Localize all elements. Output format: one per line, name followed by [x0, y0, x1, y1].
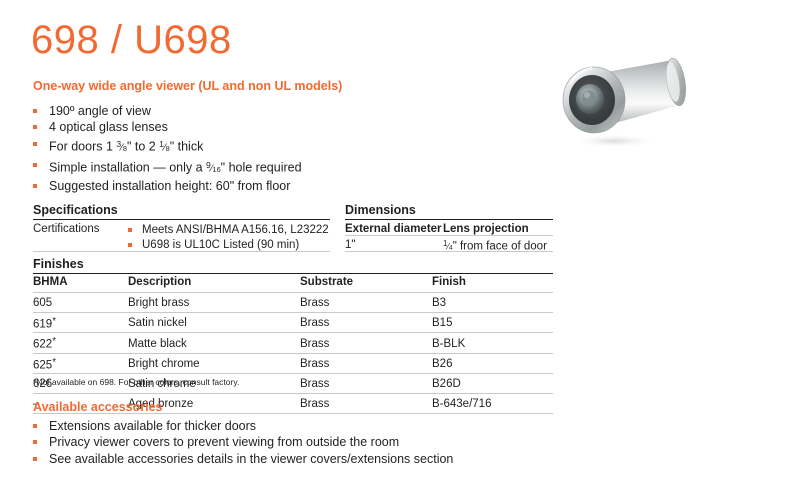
certification-text: Meets ANSI/BHMA A156.16, L23222 — [142, 224, 329, 236]
column-header-finish: Finish — [432, 276, 553, 293]
dimensions-column-lens-projection: Lens projection — [443, 223, 529, 235]
accessory-text: Extensions available for thicker doors — [49, 419, 256, 433]
bullet-square-icon — [33, 125, 37, 129]
dimensions-rule-bottom — [345, 251, 553, 252]
column-header-description: Description — [128, 276, 300, 293]
product-image-door-viewer — [540, 48, 715, 153]
cell-finish: B-BLK — [432, 333, 553, 353]
list-item: 190º angle of view — [33, 103, 302, 119]
cell-substrate: Brass — [300, 293, 432, 313]
bullet-square-icon — [128, 228, 132, 232]
bullet-square-icon — [33, 424, 37, 428]
bullet-square-icon — [128, 243, 132, 247]
finishes-table: BHMA Description Substrate Finish 605Bri… — [33, 276, 553, 414]
footnote-asterisk: * — [52, 357, 56, 368]
product-shadow — [570, 134, 658, 148]
cell-bhma: 625* — [33, 353, 128, 373]
bullet-square-icon — [33, 109, 37, 113]
list-item: For doors 1 3⁄8" to 2 1⁄8" thick — [33, 136, 302, 157]
cell-description: Bright brass — [128, 293, 300, 313]
page-title: 698 / U698 — [31, 18, 232, 62]
cell-substrate: Brass — [300, 313, 432, 333]
finishes-heading: Finishes — [33, 257, 84, 271]
list-item: Suggested installation height: 60" from … — [33, 178, 302, 194]
list-item: Privacy viewer covers to prevent viewing… — [33, 434, 453, 450]
bullet-square-icon — [33, 142, 37, 146]
finishes-rule-top — [33, 273, 553, 274]
dimensions-heading: Dimensions — [345, 203, 416, 217]
feature-list: 190º angle of view 4 optical glass lense… — [33, 103, 302, 194]
accessories-list: Extensions available for thicker doors P… — [33, 418, 453, 467]
cell-bhma: 605 — [33, 293, 128, 313]
finishes-footnote: *Not available on 698. For other colors,… — [33, 377, 239, 387]
accessories-heading: Available accessories — [33, 400, 163, 414]
accessory-text: Privacy viewer covers to prevent viewing… — [49, 435, 399, 449]
specifications-row-label: Certifications — [33, 223, 99, 235]
bullet-square-icon — [33, 457, 37, 461]
accessory-text: See available accessories details in the… — [49, 452, 453, 466]
cell-bhma: 622* — [33, 333, 128, 353]
cell-description: Satin nickel — [128, 313, 300, 333]
cell-substrate: Brass — [300, 374, 432, 394]
column-header-bhma: BHMA — [33, 276, 128, 293]
bullet-square-icon — [33, 440, 37, 444]
cell-substrate: Brass — [300, 394, 432, 414]
specifications-rule-top — [33, 219, 330, 220]
dimensions-rule-top — [345, 219, 553, 220]
cell-finish: B3 — [432, 293, 553, 313]
cell-finish: B26 — [432, 353, 553, 373]
list-item: Simple installation — only a 9⁄16" hole … — [33, 157, 302, 178]
footnote-asterisk: * — [52, 316, 56, 327]
table-row: 619*Satin nickelBrassB15 — [33, 313, 553, 333]
cell-bhma: 619* — [33, 313, 128, 333]
dimensions-column-external-diameter: External diameter — [345, 223, 442, 235]
cell-description: Bright chrome — [128, 353, 300, 373]
list-item: See available accessories details in the… — [33, 451, 453, 467]
list-item: Extensions available for thicker doors — [33, 418, 453, 434]
specifications-rule-bottom — [33, 251, 330, 252]
table-header-row: BHMA Description Substrate Finish — [33, 276, 553, 293]
list-item: 4 optical glass lenses — [33, 119, 302, 135]
specifications-heading: Specifications — [33, 203, 118, 217]
dimensions-rule-mid — [345, 235, 553, 236]
certifications-list: Meets ANSI/BHMA A156.16, L23222 U698 is … — [128, 223, 329, 253]
cell-description: Matte black — [128, 333, 300, 353]
cell-substrate: Brass — [300, 333, 432, 353]
cell-finish: B-643e/716 — [432, 394, 553, 414]
cell-finish: B26D — [432, 374, 553, 394]
cell-substrate: Brass — [300, 353, 432, 373]
product-subtitle: One-way wide angle viewer (UL and non UL… — [33, 79, 342, 93]
dimensions-value-external-diameter: 1" — [345, 239, 355, 251]
bullet-square-icon — [33, 163, 37, 167]
footnote-asterisk: * — [52, 336, 56, 347]
cell-finish: B15 — [432, 313, 553, 333]
bullet-square-icon — [33, 184, 37, 188]
table-row: 625*Bright chromeBrassB26 — [33, 353, 553, 373]
table-row: 622*Matte blackBrassB-BLK — [33, 333, 553, 353]
column-header-substrate: Substrate — [300, 276, 432, 293]
table-row: 605Bright brassBrassB3 — [33, 293, 553, 313]
lens-highlight — [584, 92, 590, 98]
list-item: Meets ANSI/BHMA A156.16, L23222 — [128, 223, 329, 238]
certification-text: U698 is UL10C Listed (90 min) — [142, 239, 299, 251]
